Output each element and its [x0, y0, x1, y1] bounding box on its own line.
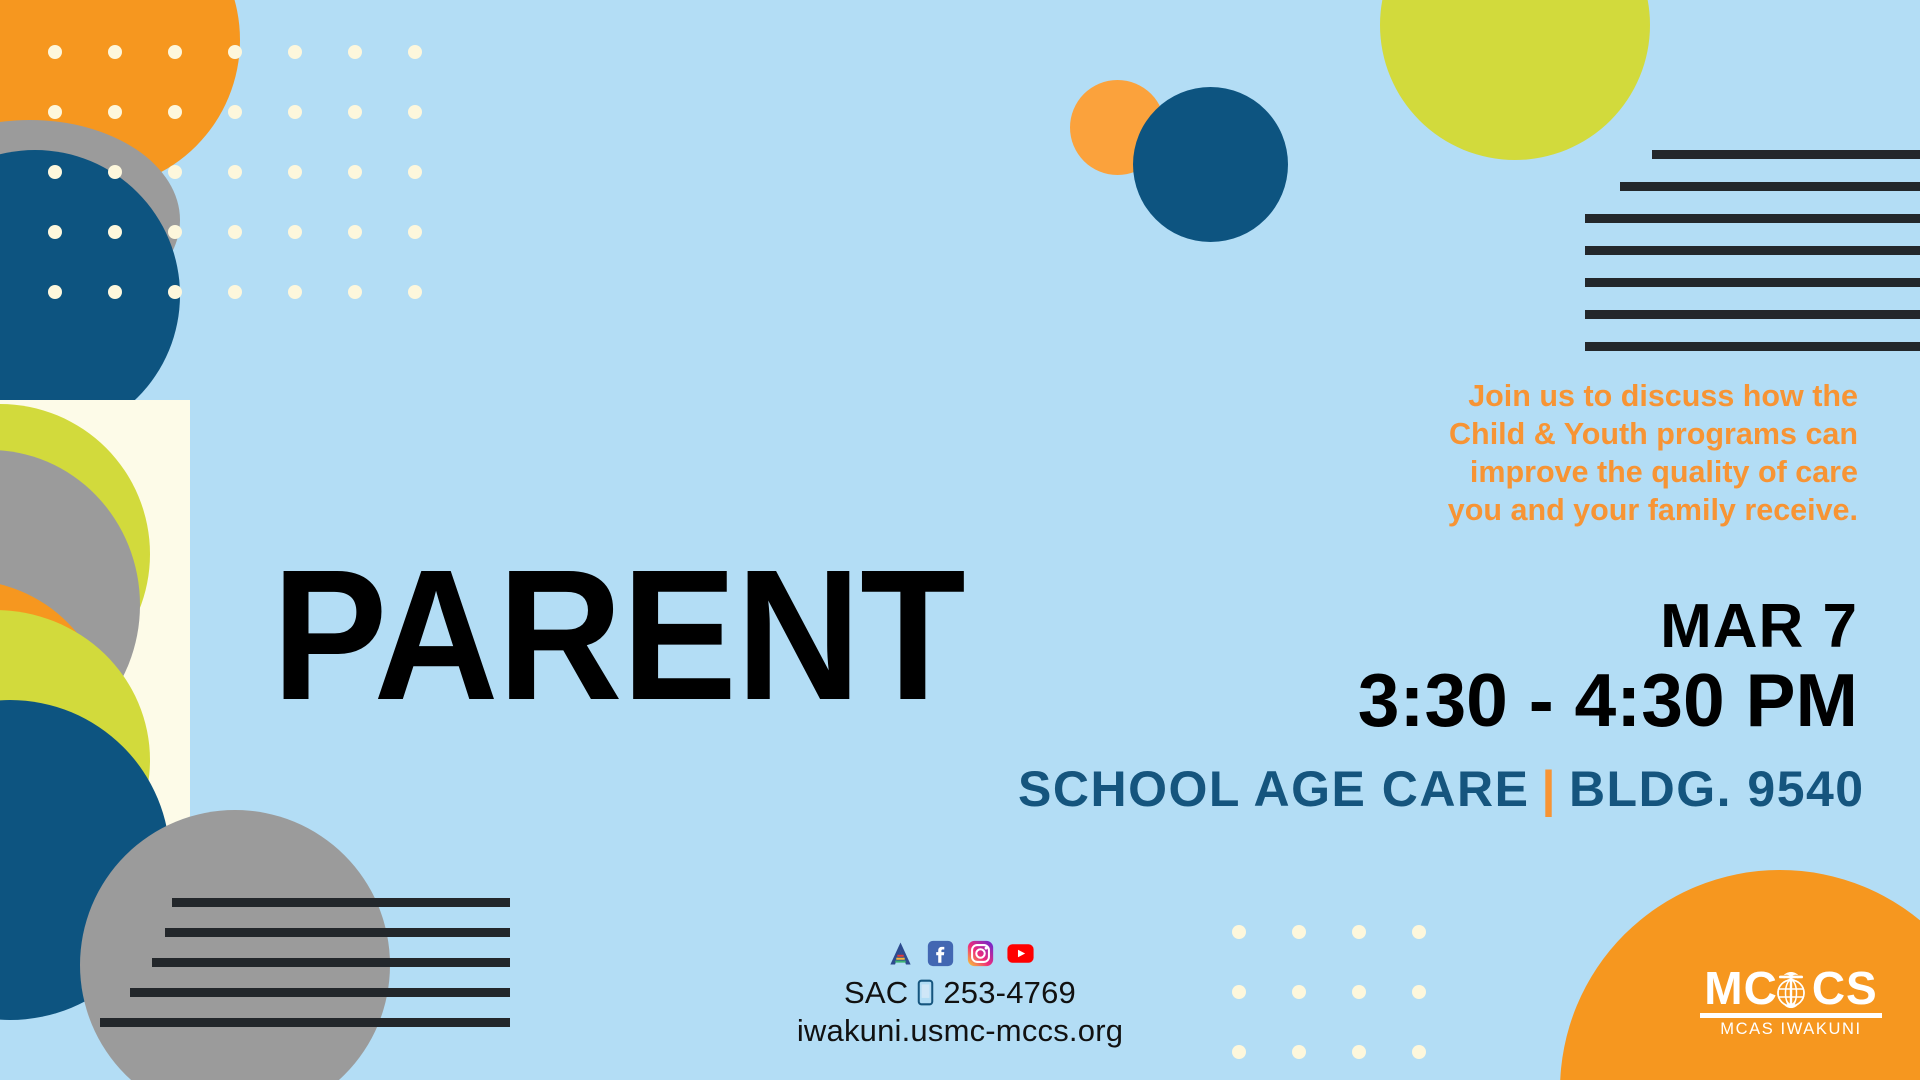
event-location: SCHOOL AGE CARE|BLDG. 9540: [1018, 760, 1858, 818]
top-stripe-3: [1585, 214, 1920, 223]
grid-dot: [1352, 925, 1366, 939]
grid-dot: [228, 225, 242, 239]
event-date: MAR 7: [1138, 596, 1858, 658]
top-stripe-5: [1585, 278, 1920, 287]
mobile-phone-icon: [917, 979, 934, 1006]
grid-dot: [48, 165, 62, 179]
top-stripe-6: [1585, 310, 1920, 319]
contact-label: SAC: [844, 974, 908, 1012]
venue-building: BLDG. 9540: [1569, 761, 1865, 817]
instagram-icon[interactable]: [967, 940, 994, 967]
facebook-icon[interactable]: [927, 940, 954, 967]
top-stripe-4: [1585, 246, 1920, 255]
grid-dot: [48, 225, 62, 239]
poster-canvas: PARENT ADVISORY BOARD Join us to discuss…: [0, 0, 1920, 1080]
phone-number[interactable]: 253-4769: [943, 974, 1076, 1012]
grid-dot: [168, 165, 182, 179]
grid-dot: [408, 45, 422, 59]
top-stripe-1: [1652, 150, 1920, 159]
mccs-wordmark: MCCS: [1700, 966, 1882, 1010]
grid-dot: [168, 225, 182, 239]
grid-dot: [48, 285, 62, 299]
youtube-icon[interactable]: [1007, 940, 1034, 967]
event-datetime: MAR 7 3:30 - 4:30 PM: [1138, 596, 1858, 742]
grid-dot: [108, 225, 122, 239]
app-icon[interactable]: [887, 940, 914, 967]
mccs-subtitle: MCAS IWAKUNI: [1700, 1020, 1882, 1039]
headline-line-2: ADVISORY: [272, 1075, 1162, 1080]
grid-dot: [348, 105, 362, 119]
venue-name: SCHOOL AGE CARE: [1018, 761, 1529, 817]
grid-dot: [168, 45, 182, 59]
top-right-lime-circle: [1380, 0, 1650, 160]
social-links: [887, 940, 1034, 967]
grid-dot: [288, 105, 302, 119]
grid-dot: [228, 45, 242, 59]
grid-dot: [48, 105, 62, 119]
grid-dot: [108, 285, 122, 299]
grid-dot: [228, 165, 242, 179]
contact-line: SAC 253-4769: [844, 974, 1076, 1012]
venue-separator: |: [1541, 761, 1557, 817]
grid-dot: [228, 105, 242, 119]
website-url[interactable]: iwakuni.usmc-mccs.org: [797, 1012, 1123, 1050]
grid-dot: [1412, 925, 1426, 939]
headline-line-1: PARENT: [272, 548, 1162, 724]
grid-dot: [168, 285, 182, 299]
grid-dot: [108, 165, 122, 179]
grid-dot: [348, 45, 362, 59]
eagle-globe-anchor-icon: [1768, 963, 1814, 1015]
grid-dot: [48, 45, 62, 59]
mccs-logo: MCCS MCA: [1700, 966, 1882, 1039]
grid-dot: [168, 105, 182, 119]
grid-dot: [408, 165, 422, 179]
grid-dot: [408, 105, 422, 119]
grid-dot: [288, 45, 302, 59]
grid-dot: [108, 105, 122, 119]
grid-dot: [108, 45, 122, 59]
grid-dot: [1292, 925, 1306, 939]
grid-dot: [1232, 925, 1246, 939]
top-stripe-7: [1585, 342, 1920, 351]
footer-contact: SAC 253-4769 iwakuni.usmc-mccs.org: [0, 940, 1920, 1050]
grid-dot: [348, 165, 362, 179]
event-time: 3:30 - 4:30 PM: [1138, 658, 1858, 742]
grid-dot: [228, 285, 242, 299]
grid-dot: [288, 165, 302, 179]
event-description: Join us to discuss how the Child & Youth…: [1428, 378, 1858, 530]
top-stripe-2: [1620, 182, 1920, 191]
